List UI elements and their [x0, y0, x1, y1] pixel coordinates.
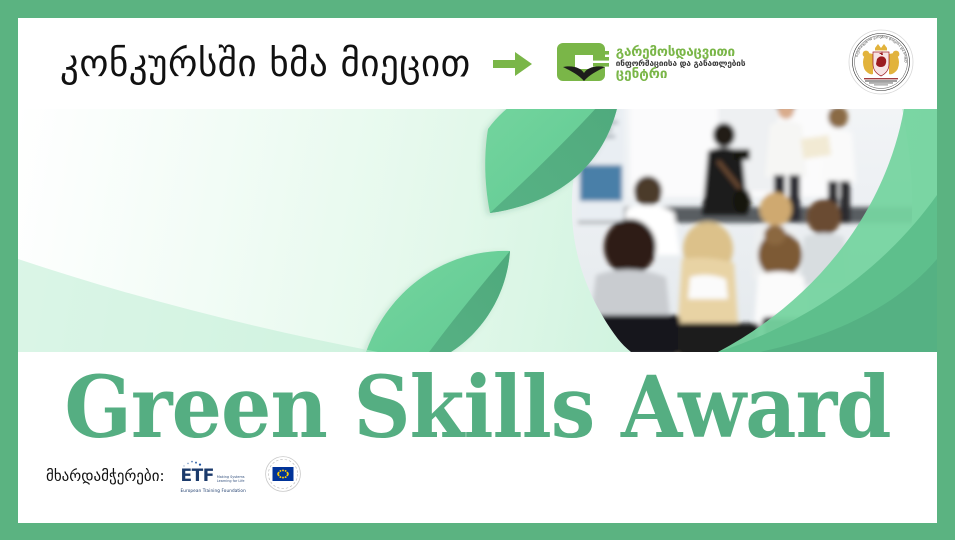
poster-canvas: კონკურსში ხმა მიეცით [18, 18, 937, 523]
etf-wordmark-row: ETF Making Systems Learning for Life [181, 468, 245, 485]
award-title: Green Skills Award [50, 366, 905, 451]
right-arrow-icon [493, 51, 533, 77]
org-logo-line1: გარემოსდაცვითი [616, 46, 746, 60]
etf-subtitle: European Training Foundation [181, 488, 246, 493]
hero-graphics [18, 109, 937, 352]
hero-section [18, 109, 937, 352]
org-logo: გარემოსდაცვითი ინფორმაციისა და განათლები… [557, 35, 746, 93]
etf-tagline: Making Systems Learning for Life [217, 475, 245, 484]
eiec-mark-icon [557, 35, 611, 93]
page-title: კონკურსში ხმა მიეცით [60, 45, 471, 82]
supporters-label: მხარდამჭერები: [46, 467, 165, 485]
ministry-emblem-icon: საქართველოს გარემოს დაცვისა და სოფლის [848, 29, 914, 99]
header-band: კონკურსში ხმა მიეცით [18, 18, 937, 109]
eu-flag-logo [264, 455, 302, 497]
etf-tagline-line2: Learning for Life [217, 479, 245, 483]
etf-logo: ETF Making Systems Learning for Life Eur… [181, 460, 246, 493]
poster-frame: კონკურსში ხმა მიეცით [0, 0, 955, 540]
org-logo-line3: ცენტრი [616, 68, 746, 82]
title-section: Green Skills Award მხარდამჭერები: ETF [18, 352, 937, 523]
etf-wordmark: ETF [181, 468, 214, 485]
org-logo-text: გარემოსდაცვითი ინფორმაციისა და განათლები… [616, 46, 746, 82]
supporters-row: მხარდამჭერები: ETF Making Systems [46, 455, 302, 497]
